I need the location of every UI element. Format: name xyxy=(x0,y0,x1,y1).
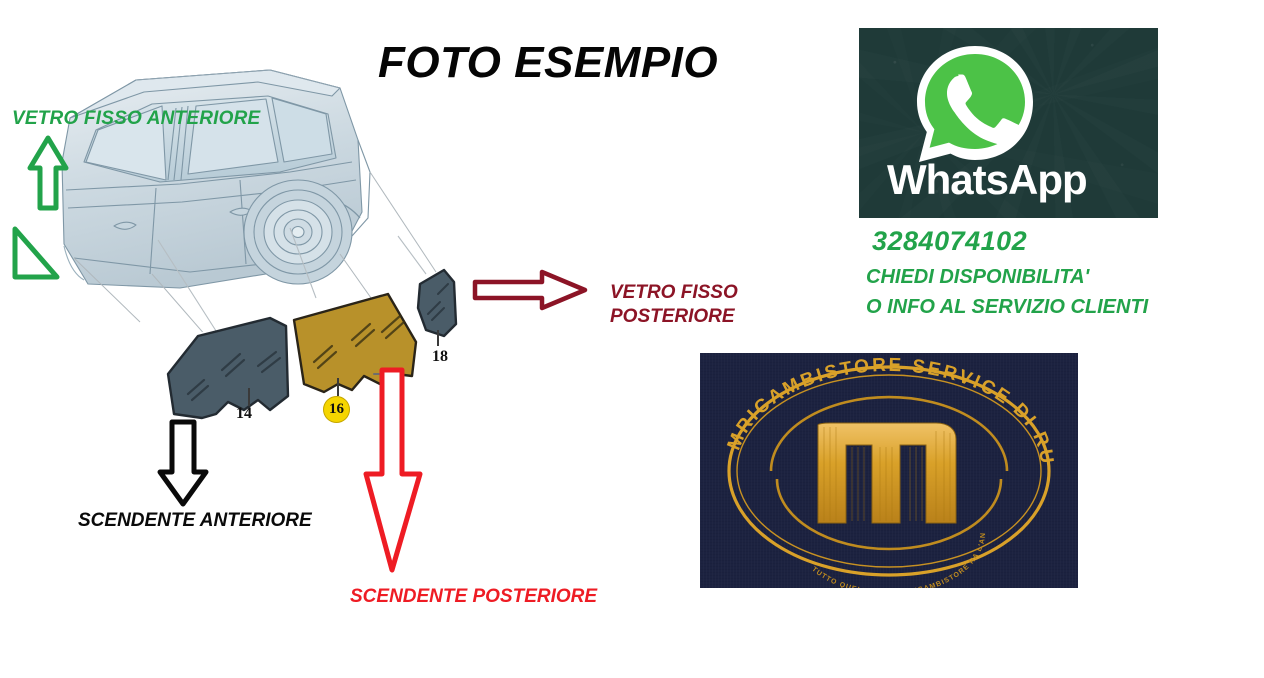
label-vetro-fisso-anteriore: VETRO FISSO ANTERIORE xyxy=(12,108,260,130)
whatsapp-banner: WhatsApp xyxy=(859,28,1158,218)
part-16-leader xyxy=(337,378,339,396)
part-badge-16: 16 xyxy=(323,396,350,423)
page-title: FOTO ESEMPIO xyxy=(378,38,718,88)
part-number-14: 14 xyxy=(236,405,252,423)
label-vetro-fisso-posteriore: VETRO FISSO POSTERIORE xyxy=(610,281,738,329)
arrow-right-darkred-icon xyxy=(470,268,590,312)
part-number-18: 18 xyxy=(432,348,448,366)
arrow-up-green-icon xyxy=(26,134,70,212)
part-18-leader xyxy=(437,330,439,346)
brand-logo-photo: MRICAMBISTORE SERVICE DI RUSSO MARCO TUT… xyxy=(700,353,1078,588)
label-scendente-anteriore: SCENDENTE ANTERIORE xyxy=(78,510,312,532)
contact-line-1: CHIEDI DISPONIBILITA' xyxy=(866,266,1089,289)
label-vfp-line1: VETRO FISSO xyxy=(610,281,738,305)
brand-logo-graphic: MRICAMBISTORE SERVICE DI RUSSO MARCO TUT… xyxy=(700,353,1078,588)
arrow-down-red-icon xyxy=(358,366,428,576)
arrow-down-black-icon xyxy=(156,418,210,508)
whatsapp-icon xyxy=(911,40,1039,168)
whatsapp-wordmark: WhatsApp xyxy=(879,156,1147,204)
contact-line-2: O INFO AL SERVIZIO CLIENTI xyxy=(866,296,1148,319)
triangle-green-icon xyxy=(10,224,62,282)
image-canvas: 14 16 17 18 VETRO FISSO ANTER xyxy=(0,0,1264,678)
part-14-leader xyxy=(248,388,250,406)
label-vfp-line2: POSTERIORE xyxy=(610,305,738,329)
whatsapp-phone-number[interactable]: 3284074102 xyxy=(872,226,1027,257)
label-scendente-posteriore: SCENDENTE POSTERIORE xyxy=(350,586,597,608)
part-14-glass xyxy=(158,314,294,426)
